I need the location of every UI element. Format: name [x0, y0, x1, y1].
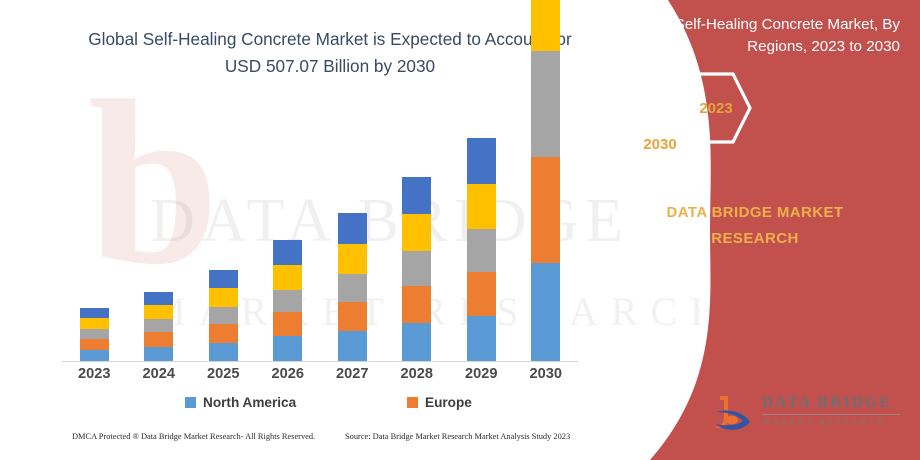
x-axis-tick-2029: 2029	[449, 366, 514, 382]
bar-segment	[531, 157, 560, 263]
x-axis-tick-2025: 2025	[191, 366, 256, 382]
infographic-root: b DATA BRIDGE MARKET RESEARCH Global Sel…	[0, 0, 920, 460]
bar-segment	[209, 288, 238, 307]
x-axis-tick-2026: 2026	[256, 366, 321, 382]
bar-segment	[80, 339, 109, 350]
bar-slot-2025	[191, 101, 256, 361]
bar-segment	[338, 244, 367, 274]
stacked-bar-2023[interactable]	[80, 308, 109, 361]
legend-label: North America	[203, 395, 296, 410]
stacked-bar-2030[interactable]	[531, 0, 560, 361]
bar-slot-2029	[449, 101, 514, 361]
footer-source: Source: Data Bridge Market Research Mark…	[345, 432, 570, 441]
chart-x-axis: 20232024202520262027202820292030	[62, 366, 578, 382]
bar-segment	[80, 329, 109, 339]
bar-slot-2027	[320, 101, 385, 361]
bar-segment	[402, 286, 431, 323]
footer-copyright: DMCA Protected ® Data Bridge Market Rese…	[72, 432, 315, 441]
chart-baseline	[62, 361, 578, 362]
panel-brand-line1: DATA BRIDGE MARKET	[610, 200, 900, 226]
bar-segment	[273, 312, 302, 336]
bar-slot-2028	[385, 101, 450, 361]
panel-brand: DATA BRIDGE MARKET RESEARCH	[610, 200, 900, 252]
bar-segment	[144, 332, 173, 347]
legend-item-europe[interactable]: Europe	[407, 395, 472, 410]
brand-logo-tagline: MARKET RESEARCH	[762, 417, 900, 426]
bar-segment	[338, 302, 367, 331]
right-panel: Global Self-Healing Concrete Market, By …	[590, 0, 920, 460]
bar-segment	[209, 343, 238, 361]
panel-brand-line2: RESEARCH	[610, 226, 900, 252]
bar-segment	[209, 270, 238, 288]
brand-logo: DATA BRIDGE MARKET RESEARCH	[710, 388, 910, 440]
hexagon-2023: 2023	[678, 70, 754, 146]
x-axis-tick-2028: 2028	[385, 366, 450, 382]
bar-segment	[531, 263, 560, 361]
legend-swatch	[407, 397, 418, 408]
bar-segment	[209, 307, 238, 324]
bar-segment	[273, 336, 302, 361]
bar-slot-2023	[62, 101, 127, 361]
page-title: Global Self-Healing Concrete Market is E…	[60, 26, 600, 80]
brand-logo-name: DATA BRIDGE	[762, 394, 900, 412]
bar-segment	[80, 318, 109, 329]
x-axis-tick-2027: 2027	[320, 366, 385, 382]
bridge-b-icon-shape	[710, 392, 756, 436]
chart-bars	[62, 101, 578, 361]
legend-swatch	[185, 397, 196, 408]
legend-item-north-america[interactable]: North America	[185, 395, 296, 410]
bar-segment	[402, 251, 431, 286]
brand-logo-divider	[762, 414, 900, 415]
bar-segment	[144, 292, 173, 305]
bar-segment	[273, 265, 302, 290]
stacked-bar-2024[interactable]	[144, 292, 173, 361]
bar-segment	[531, 0, 560, 51]
bar-segment	[338, 213, 367, 244]
bar-segment	[402, 323, 431, 361]
chart-plot-area	[62, 100, 592, 362]
stacked-bar-2029[interactable]	[467, 138, 496, 361]
stacked-bar-2025[interactable]	[209, 270, 238, 361]
hexagon-group: 2030 2023	[590, 78, 920, 198]
bar-segment	[531, 51, 560, 157]
bar-segment	[144, 305, 173, 319]
bar-segment	[467, 316, 496, 361]
bridge-b-icon	[710, 392, 756, 436]
bar-segment	[467, 184, 496, 229]
bar-segment	[144, 319, 173, 332]
hexagon-2023-label: 2023	[678, 70, 754, 146]
stacked-bar-2026[interactable]	[273, 240, 302, 361]
bar-segment	[273, 290, 302, 312]
bar-segment	[144, 347, 173, 361]
legend-label: Europe	[425, 395, 472, 410]
bar-segment	[467, 272, 496, 316]
bar-segment	[273, 240, 302, 265]
bar-segment	[80, 308, 109, 318]
chart-legend: North AmericaEurope	[62, 393, 578, 415]
bar-slot-2030	[514, 101, 579, 361]
page-title-line2: USD 507.07 Billion by 2030	[60, 53, 600, 80]
bar-slot-2026	[256, 101, 321, 361]
panel-heading-line2: Regions, 2023 to 2030	[618, 36, 900, 58]
stacked-bar-2028[interactable]	[402, 177, 431, 361]
panel-heading-line1: Global Self-Healing Concrete Market, By	[618, 14, 900, 36]
page-title-line1: Global Self-Healing Concrete Market is E…	[60, 26, 600, 53]
bar-segment	[402, 177, 431, 214]
bar-segment	[209, 324, 238, 343]
brand-logo-text: DATA BRIDGE MARKET RESEARCH	[762, 394, 900, 426]
bar-slot-2024	[127, 101, 192, 361]
bar-segment	[338, 331, 367, 361]
x-axis-tick-2023: 2023	[62, 366, 127, 382]
x-axis-tick-2024: 2024	[127, 366, 192, 382]
stacked-bar-2027[interactable]	[338, 213, 367, 361]
bar-segment	[467, 138, 496, 184]
panel-heading: Global Self-Healing Concrete Market, By …	[618, 14, 900, 58]
bar-segment	[467, 229, 496, 272]
bar-segment	[80, 350, 109, 361]
bar-segment	[338, 274, 367, 302]
x-axis-tick-2030: 2030	[514, 366, 579, 382]
bar-segment	[402, 214, 431, 251]
